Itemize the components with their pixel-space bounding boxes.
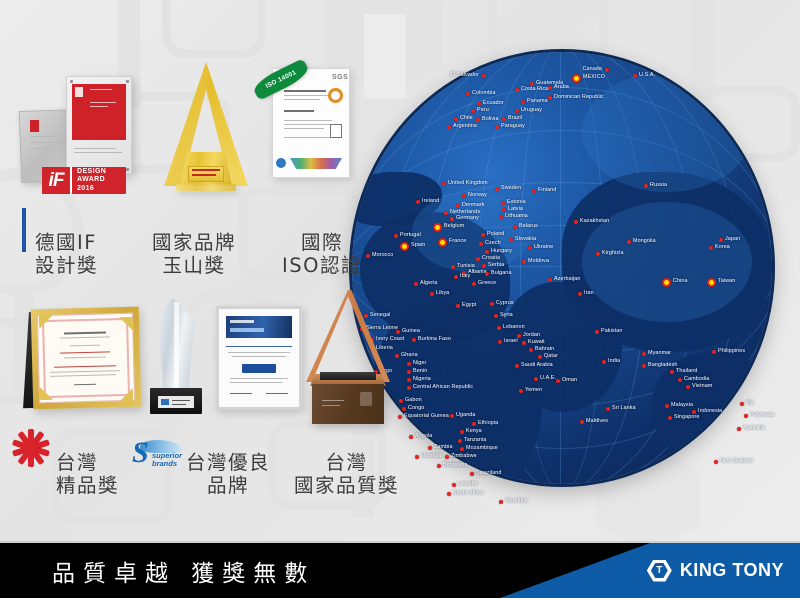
- globe-marker-label: Polynesia: [750, 412, 774, 418]
- globe-marker: [602, 360, 606, 364]
- globe-marker-label: Uruguay: [521, 107, 542, 113]
- globe-marker: [528, 246, 532, 250]
- caption-if-design: 德國IF 設計獎: [22, 208, 98, 300]
- globe-marker-label: Moldova: [528, 258, 549, 264]
- globe-marker-label: Greece: [478, 280, 496, 286]
- globe-marker: [556, 379, 560, 383]
- globe-marker-label: Paraguay: [501, 123, 525, 129]
- globe-marker-label: Algeria: [420, 280, 437, 286]
- globe-marker: [450, 217, 454, 221]
- globe-marker: [596, 252, 600, 256]
- globe-marker: [595, 330, 599, 334]
- globe-marker-label: Botswana: [443, 462, 467, 468]
- globe-marker-label: Nigeria: [413, 376, 431, 382]
- globe-marker: [458, 439, 462, 443]
- globe-marker: [627, 240, 631, 244]
- globe-marker: [522, 260, 526, 264]
- globe-marker-label: Uganda: [456, 412, 475, 418]
- globe-marker-label: Sweden: [501, 185, 521, 191]
- award-photo-taiwan-excellence-cert: [16, 300, 146, 422]
- globe-marker-label: Azerbaijan: [554, 276, 580, 282]
- caption-yushan-line2: 玉山獎: [152, 254, 236, 277]
- globe-marker-label: Kirghizia: [602, 250, 624, 256]
- globe-marker: [460, 447, 464, 451]
- globe-marker: [485, 250, 489, 254]
- globe-marker: [430, 292, 434, 296]
- globe-marker: [495, 125, 499, 129]
- globe-marker-label: Fiji: [746, 400, 753, 406]
- globe-marker: [513, 225, 517, 229]
- globe-marker: [466, 92, 470, 96]
- caption-superior-brands: 台灣優良 品牌: [186, 428, 270, 520]
- globe-marker: [394, 234, 398, 238]
- globe-marker: [366, 254, 370, 258]
- taiwan-excellence-logo: [14, 431, 48, 465]
- caption-sb-line1: 台灣優良: [186, 451, 270, 474]
- globe-marker-label: Equatorial Guinea: [404, 413, 449, 419]
- caption-iso: 國際 ISO認證: [282, 208, 362, 300]
- globe-marker-label: U.A.E.: [540, 375, 556, 381]
- globe-marker: [707, 278, 716, 287]
- globe-marker-label: Niger: [413, 360, 426, 366]
- globe-marker-label: Lithuania: [505, 213, 528, 219]
- globe-marker: [502, 117, 506, 121]
- globe-marker: [407, 378, 411, 382]
- globe-marker-label: Myanmar: [648, 350, 671, 356]
- world-distribution-globe: El SalvadorGuatemalaCosta RicaArubaMEXIC…: [352, 52, 772, 484]
- sb-logo-line2: brands: [152, 459, 177, 468]
- globe-marker: [494, 314, 498, 318]
- globe-marker-label: Kazakhstan: [580, 218, 609, 224]
- globe-marker-label: El Salvador: [352, 72, 479, 78]
- globe-marker: [709, 246, 713, 250]
- globe-marker: [450, 414, 454, 418]
- globe-marker-label: Bangladesh: [648, 362, 677, 368]
- globe-marker-label: Italy: [460, 273, 470, 279]
- globe-marker: [670, 370, 674, 374]
- globe-marker-label: Pakistan: [601, 328, 622, 334]
- globe-marker-label: Spain: [411, 242, 425, 248]
- globe-marker: [477, 102, 481, 106]
- caption-nq-line2: 國家品質獎: [294, 474, 399, 497]
- globe-marker-label: Colombia: [472, 90, 496, 96]
- globe-marker-label: Estonia: [507, 199, 526, 205]
- globe-marker: [407, 370, 411, 374]
- king-tony-wordmark: KING TONY: [680, 560, 784, 581]
- globe-marker: [532, 189, 536, 193]
- globe-marker-label: Kuwait: [528, 339, 545, 345]
- globe-marker: [642, 352, 646, 356]
- globe-marker-label: Oman: [562, 377, 577, 383]
- globe-marker-label: Israel: [504, 338, 518, 344]
- globe-marker-label: Belgium: [444, 223, 464, 229]
- award-photo-crystal-trophy: [146, 296, 208, 424]
- award-photo-national-quality-trophy: [296, 290, 400, 422]
- caption-if-line2: 設計獎: [35, 254, 98, 277]
- caption-tw-exc-line1: 台灣: [56, 451, 98, 474]
- globe-marker: [416, 200, 420, 204]
- globe-marker: [402, 407, 406, 411]
- globe-marker-label: Lebanon: [503, 324, 525, 330]
- globe-marker: [476, 118, 480, 122]
- globe-marker: [678, 378, 682, 382]
- globe-marker-label: Burkina Faso: [418, 336, 451, 342]
- globe-marker-label: Canada: [352, 66, 602, 72]
- globe-marker-label: Australia: [743, 425, 765, 431]
- globe-marker: [407, 386, 411, 390]
- globe-marker-label: Denmark: [462, 202, 485, 208]
- globe-marker-label: India: [608, 358, 620, 364]
- if-design-award-badge: iF DESIGN AWARD 2016: [42, 167, 126, 194]
- caption-yushan: 國家品牌 玉山獎: [152, 208, 236, 300]
- king-tony-hex-logo: T: [647, 560, 672, 582]
- globe-marker-label: Bolivia: [482, 116, 499, 122]
- globe-marker: [460, 430, 464, 434]
- globe-marker: [433, 223, 442, 232]
- globe-marker: [580, 420, 584, 424]
- globe-marker-label: Angola: [415, 433, 432, 439]
- globe-marker-label: Latvia: [508, 206, 523, 212]
- globe-marker: [470, 472, 474, 476]
- globe-marker: [442, 182, 446, 186]
- globe-marker: [515, 88, 519, 92]
- globe-marker-label: Serbia: [488, 262, 504, 268]
- globe-marker: [665, 404, 669, 408]
- globe-marker-label: Syria: [500, 312, 513, 318]
- slide-root: El SalvadorGuatemalaCosta RicaArubaMEXIC…: [0, 0, 800, 598]
- award-photo-iso-certificate: SGS ISO 14001: [246, 62, 366, 192]
- globe-marker: [515, 364, 519, 368]
- globe-marker: [502, 208, 506, 212]
- globe-marker: [529, 348, 533, 352]
- globe-marker-label: Sri Lanka: [612, 405, 636, 411]
- caption-accent-bar: [22, 208, 26, 252]
- globe-marker: [438, 238, 447, 247]
- globe-marker: [498, 340, 502, 344]
- globe-marker-label: Norway: [468, 192, 487, 198]
- if-badge-line3: 2016: [77, 185, 126, 194]
- globe-marker-label: Thailand: [676, 368, 697, 374]
- king-tony-logo[interactable]: T KING TONY: [647, 543, 784, 598]
- globe-marker-label: Singapore: [674, 414, 699, 420]
- caption-yushan-line1: 國家品牌: [152, 231, 236, 254]
- globe-marker-label: Panama: [527, 98, 548, 104]
- globe-marker: [452, 483, 456, 487]
- king-tony-logo-letter: T: [655, 565, 663, 576]
- globe-marker-label: Guinea: [402, 328, 420, 334]
- globe-marker-label: Korea: [715, 244, 730, 250]
- globe-marker: [472, 282, 476, 286]
- globe-marker-label: Benin: [413, 368, 427, 374]
- globe-marker: [521, 100, 525, 104]
- globe-marker-label: Gabon: [405, 397, 422, 403]
- globe-marker: [737, 427, 741, 431]
- globe-marker: [456, 304, 460, 308]
- globe-marker: [578, 292, 582, 296]
- globe-marker-label: Libya: [436, 290, 449, 296]
- globe-marker: [481, 233, 485, 237]
- globe-marker: [437, 464, 441, 468]
- globe-marker-label: Mongolia: [633, 238, 656, 244]
- globe-marker-label: Maldives: [586, 418, 608, 424]
- caption-sb-line2: 品牌: [186, 474, 270, 497]
- globe-marker-label: Ireland: [422, 198, 439, 204]
- globe-marker-label: U.S.A.: [639, 72, 655, 78]
- globe-marker-label: Argentina: [453, 123, 477, 129]
- globe-marker: [497, 326, 501, 330]
- globe-marker-label: Lesotho: [458, 481, 478, 487]
- globe-marker: [572, 74, 581, 83]
- globe-marker-label: Saudi Arabia: [521, 362, 553, 368]
- globe-marker-label: Costa Rica: [521, 86, 548, 92]
- globe-marker-label: Swaziland: [476, 470, 501, 476]
- globe-marker-label: Yemen: [525, 387, 542, 393]
- globe-marker: [415, 455, 419, 459]
- globe-marker-label: Poland: [487, 231, 504, 237]
- globe-marker: [515, 109, 519, 113]
- globe-marker: [479, 242, 483, 246]
- globe-marker-label: Jordan: [523, 332, 540, 338]
- caption-national-quality: 台灣 國家品質獎: [294, 428, 399, 520]
- globe-marker: [548, 278, 552, 282]
- globe-marker: [447, 125, 451, 129]
- globe-marker: [476, 257, 480, 261]
- footer-tagline: 品質卓越 獲獎無數: [52, 543, 315, 598]
- globe-marker-label: New Zealand: [720, 458, 753, 464]
- globe-marker-label: Slovakia: [515, 236, 536, 242]
- globe-marker-label: Czech: [485, 240, 501, 246]
- caption-tw-exc-line2: 精品獎: [56, 474, 119, 497]
- globe-marker-label: Hungary: [491, 248, 512, 254]
- if-logo-mark: iF: [42, 167, 72, 194]
- globe-marker: [714, 460, 718, 464]
- globe-marker: [472, 422, 476, 426]
- caption-taiwan-excellence: 台灣 精品獎: [56, 428, 119, 520]
- globe-marker: [499, 215, 503, 219]
- globe-marker-label: South Africa: [453, 490, 483, 496]
- globe-marker-label: Indonesia: [698, 408, 722, 414]
- globe-marker-label: Cyprus: [496, 300, 514, 306]
- globe-marker-label: Qatar: [544, 353, 558, 359]
- globe-marker-label: Albania: [468, 269, 487, 275]
- globe-marker-label: Morocco: [372, 252, 393, 258]
- globe-marker: [412, 338, 416, 342]
- globe-marker: [606, 407, 610, 411]
- globe-marker: [548, 96, 552, 100]
- globe-marker-label: Germany: [456, 215, 479, 221]
- globe-marker-label: United Kingdom: [448, 180, 488, 186]
- caption-nq-line1: 台灣: [326, 451, 368, 474]
- globe-marker-label: Vietnam: [692, 383, 712, 389]
- globe-marker-label: Zambia: [434, 444, 453, 450]
- globe-marker-label: Ethiopia: [478, 420, 498, 426]
- globe-marker: [454, 275, 458, 279]
- globe-marker-label: Dominican Republic: [554, 94, 604, 100]
- globe-marker: [522, 341, 526, 345]
- globe-marker: [400, 242, 409, 251]
- globe-marker-label: Congo: [408, 405, 424, 411]
- globe-marker: [719, 238, 723, 242]
- sgs-mark: SGS: [332, 74, 348, 81]
- globe-marker-label: Belarus: [519, 223, 538, 229]
- globe-marker-label: Ghana: [401, 352, 418, 358]
- globe-marker-label: Portugal: [400, 232, 421, 238]
- globe-marker: [668, 416, 672, 420]
- superior-brands-logo: S superior brands: [132, 438, 184, 468]
- globe-marker-label: Central African Republic: [413, 384, 473, 390]
- globe-marker: [519, 389, 523, 393]
- globe-marker: [574, 220, 578, 224]
- globe-marker: [485, 272, 489, 276]
- globe-marker: [407, 362, 411, 366]
- globe-marker-label: Egypt: [462, 302, 476, 308]
- globe-marker: [447, 492, 451, 496]
- globe-marker-label: Ukraine: [534, 244, 553, 250]
- if-badge-line1: DESIGN: [77, 168, 126, 177]
- globe-marker-label: Bahrain: [535, 346, 554, 352]
- globe-marker: [633, 74, 637, 78]
- globe-marker-label: Mozambique: [466, 445, 498, 451]
- globe-marker: [509, 238, 513, 242]
- globe-marker-label: Taiwan: [718, 278, 735, 284]
- globe-marker: [642, 364, 646, 368]
- globe-marker-label: Iran: [584, 290, 594, 296]
- globe-marker: [482, 74, 486, 78]
- globe-marker: [482, 264, 486, 268]
- globe-marker-label: Kenya: [466, 428, 482, 434]
- caption-iso-line2: ISO認證: [282, 254, 362, 277]
- globe-marker-label: France: [449, 238, 466, 244]
- globe-marker: [605, 68, 609, 72]
- globe-marker: [686, 385, 690, 389]
- globe-marker-label: Ecuador: [483, 100, 504, 106]
- globe-marker: [538, 355, 542, 359]
- globe-marker: [499, 500, 503, 504]
- caption-iso-line1: 國際: [301, 231, 343, 254]
- globe-marker: [548, 86, 552, 90]
- caption-if-line1: 德國IF: [35, 231, 97, 254]
- globe-marker: [490, 302, 494, 306]
- if-badge-line2: AWARD: [77, 176, 126, 185]
- globe-marker: [454, 117, 458, 121]
- globe-marker: [471, 109, 475, 113]
- globe-marker-label: Cambodia: [684, 376, 709, 382]
- globe-marker-label: Zimbabwe: [451, 453, 477, 459]
- globe-marker: [495, 187, 499, 191]
- globe-marker: [712, 350, 716, 354]
- globe-marker-label: Croatia: [482, 255, 500, 261]
- globe-marker: [451, 265, 455, 269]
- globe-marker-label: Malaysia: [671, 402, 693, 408]
- globe-marker: [662, 278, 671, 287]
- globe-marker-label: MEXICO: [583, 74, 605, 80]
- globe-marker: [409, 435, 413, 439]
- globe-marker: [414, 282, 418, 286]
- globe-marker-label: Japan: [725, 236, 740, 242]
- globe-marker-label: Peru: [477, 107, 489, 113]
- globe-marker-label: Russia: [650, 182, 667, 188]
- globe-marker-label: Finland: [538, 187, 556, 193]
- globe-marker: [456, 204, 460, 208]
- globe-marker-label: China: [673, 278, 688, 284]
- globe-marker: [644, 184, 648, 188]
- globe-marker: [444, 211, 448, 215]
- globe-marker-label: Bulgaria: [491, 270, 512, 276]
- globe-marker: [428, 446, 432, 450]
- globe-marker-label: Aruba: [554, 84, 569, 90]
- globe-marker-label: Brazil: [508, 115, 522, 121]
- globe-marker: [744, 414, 748, 418]
- globe-marker: [445, 455, 449, 459]
- globe-marker: [462, 194, 466, 198]
- globe-marker-label: Tanzania: [464, 437, 486, 443]
- globe-marker: [534, 377, 538, 381]
- award-photo-yushan-trophy: [158, 56, 254, 196]
- footer-bar: 品質卓越 獲獎無數 T KING TONY: [0, 543, 800, 598]
- globe-marker: [501, 201, 505, 205]
- globe-marker: [740, 402, 744, 406]
- globe-marker-label: Mauritius: [505, 498, 528, 504]
- globe-marker-label: Namibia: [421, 453, 441, 459]
- globe-marker-label: Chile: [460, 115, 473, 121]
- globe-marker-label: Philippines: [718, 348, 745, 354]
